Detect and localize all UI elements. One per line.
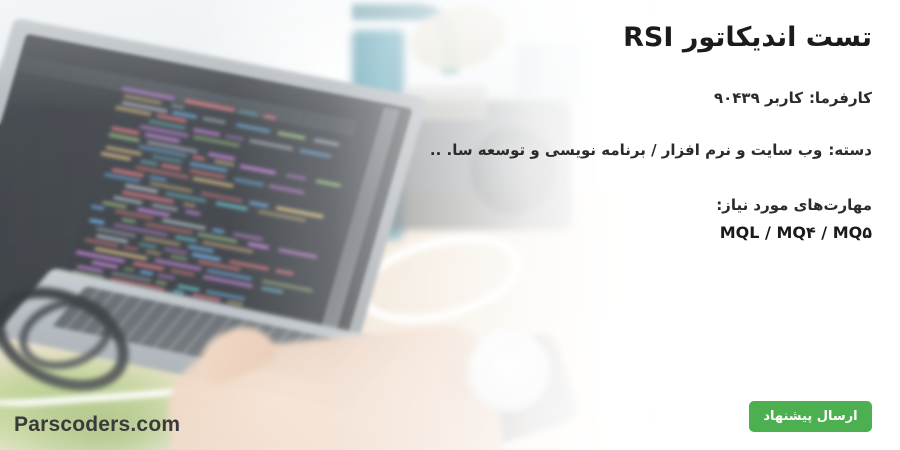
skills-block: مهارت‌های مورد نیاز: MQL / MQ۴ / MQ۵ bbox=[716, 196, 872, 242]
employer-label: کارفرما: bbox=[809, 89, 872, 107]
employer-value: کاربر ۹۰۴۳۹ bbox=[714, 89, 803, 107]
skills-label: مهارت‌های مورد نیاز: bbox=[716, 196, 872, 214]
project-card: تست اندیکاتور RSI کارفرما:کاربر ۹۰۴۳۹ دس… bbox=[0, 0, 900, 450]
page-title: تست اندیکاتور RSI bbox=[623, 22, 872, 53]
submit-proposal-button[interactable]: ارسال پیشنهاد bbox=[749, 401, 872, 432]
employer-row: کارفرما:کاربر ۹۰۴۳۹ bbox=[714, 89, 872, 107]
skills-value: MQL / MQ۴ / MQ۵ bbox=[716, 223, 872, 242]
category-row: دسته:وب سایت و نرم افزار / برنامه نویسی … bbox=[430, 141, 872, 159]
site-watermark: Parscoders.com bbox=[14, 413, 180, 437]
category-value: وب سایت و نرم افزار / برنامه نویسی و توس… bbox=[430, 141, 822, 159]
category-label: دسته: bbox=[828, 141, 872, 159]
card-content: تست اندیکاتور RSI کارفرما:کاربر ۹۰۴۳۹ دس… bbox=[0, 0, 900, 450]
